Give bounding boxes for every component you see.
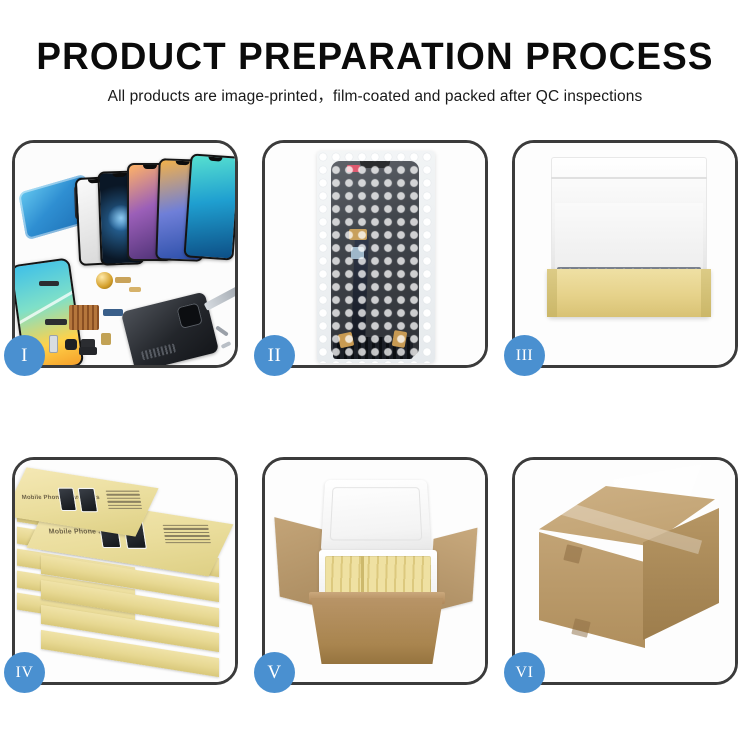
open-kraft-box-scene	[515, 143, 735, 365]
small-part-graphic	[101, 333, 111, 345]
spec-line	[164, 532, 210, 533]
step-badge-5: V	[254, 652, 295, 693]
small-part-graphic	[115, 277, 131, 283]
spec-line	[165, 542, 211, 543]
box-stack-group: Mobile Phone Spare Parts	[15, 470, 235, 680]
spec-line	[106, 491, 140, 492]
page-title: PRODUCT PREPARATION PROCESS	[11, 0, 739, 78]
label-sticker-graphic	[347, 165, 360, 172]
step-badge-1: I	[4, 335, 45, 376]
step-numeral-3: III	[516, 348, 533, 364]
tweezers-graphic	[204, 283, 235, 311]
tape-patch-graphic	[571, 618, 590, 637]
notch-shape	[176, 161, 190, 165]
carton-with-foam-box-scene	[265, 460, 485, 682]
small-part-graphic	[45, 319, 67, 325]
step-image-1	[15, 143, 235, 365]
phone-screen-graphic	[183, 153, 235, 260]
lcd-screen-graphic	[331, 161, 419, 357]
step-image-2	[265, 143, 485, 365]
box-phone-artwork	[58, 488, 77, 511]
notch-shape	[208, 157, 222, 162]
spec-line	[108, 508, 142, 509]
step-badge-2: II	[254, 335, 295, 376]
sealed-carton-scene	[515, 460, 735, 682]
carton-front-face	[539, 532, 645, 648]
process-step-panel-5: V	[262, 457, 488, 685]
box-phone-artwork	[78, 488, 99, 512]
connector-graphic	[351, 247, 364, 259]
step-image-6	[515, 460, 735, 682]
small-part-graphic	[39, 281, 59, 286]
step-numeral-2: II	[268, 346, 282, 365]
step-image-3	[515, 143, 735, 365]
spec-line	[165, 539, 211, 540]
bubble-wrapped-lcd-scene	[265, 143, 485, 365]
small-part-graphic	[221, 341, 232, 349]
speaker-part-graphic	[96, 272, 113, 289]
process-step-panel-3: III	[512, 140, 738, 368]
step-image-5	[265, 460, 485, 682]
foam-lid-graphic	[321, 480, 432, 553]
spec-line	[108, 504, 142, 505]
step-numeral-6: VI	[516, 665, 534, 681]
spec-line	[163, 525, 209, 526]
process-step-grid: I II	[12, 140, 738, 685]
stacked-retail-boxes-scene: Mobile Phone Spare Parts	[15, 460, 235, 682]
page-subtitle: All products are image-printed，film-coat…	[0, 78, 750, 106]
header: PRODUCT PREPARATION PROCESS All products…	[0, 0, 750, 106]
step-badge-6: VI	[504, 652, 545, 693]
phone-fan-group	[75, 155, 235, 265]
step-numeral-1: I	[21, 346, 28, 365]
spec-line	[164, 535, 210, 536]
small-part-graphic	[129, 287, 141, 292]
product-preparation-infographic: PRODUCT PREPARATION PROCESS All products…	[0, 0, 750, 750]
notch-shape	[143, 165, 157, 169]
box-spec-lines	[106, 491, 142, 510]
small-part-graphic	[79, 347, 97, 355]
box-spec-lines	[163, 525, 211, 544]
spec-line	[107, 498, 141, 499]
step-image-4: Mobile Phone Spare Parts	[15, 460, 235, 682]
notch-shape	[112, 173, 126, 177]
process-step-panel-2: II	[262, 140, 488, 368]
process-step-panel-1: I	[12, 140, 238, 368]
carton-body-graphic	[311, 598, 443, 664]
process-step-panel-4: Mobile Phone Spare Parts	[12, 457, 238, 685]
step-numeral-5: V	[267, 663, 281, 682]
spec-line	[163, 528, 209, 529]
process-step-panel-6: VI	[512, 457, 738, 685]
kraft-box-tray-graphic	[547, 269, 711, 317]
small-part-graphic	[103, 309, 123, 316]
step-numeral-4: IV	[16, 665, 34, 681]
spec-line	[106, 494, 140, 495]
step-badge-4: IV	[4, 652, 45, 693]
foam-sheet-graphic	[555, 203, 703, 273]
connector-graphic	[392, 330, 408, 348]
spare-parts-scene	[15, 143, 235, 365]
connector-graphic	[338, 332, 355, 349]
small-part-graphic	[215, 325, 229, 336]
connector-graphic	[349, 229, 367, 240]
step-badge-3: III	[504, 335, 545, 376]
screw-grid-graphic	[69, 305, 99, 330]
small-part-graphic	[49, 335, 58, 353]
small-part-graphic	[65, 339, 77, 350]
spec-line	[107, 501, 141, 502]
